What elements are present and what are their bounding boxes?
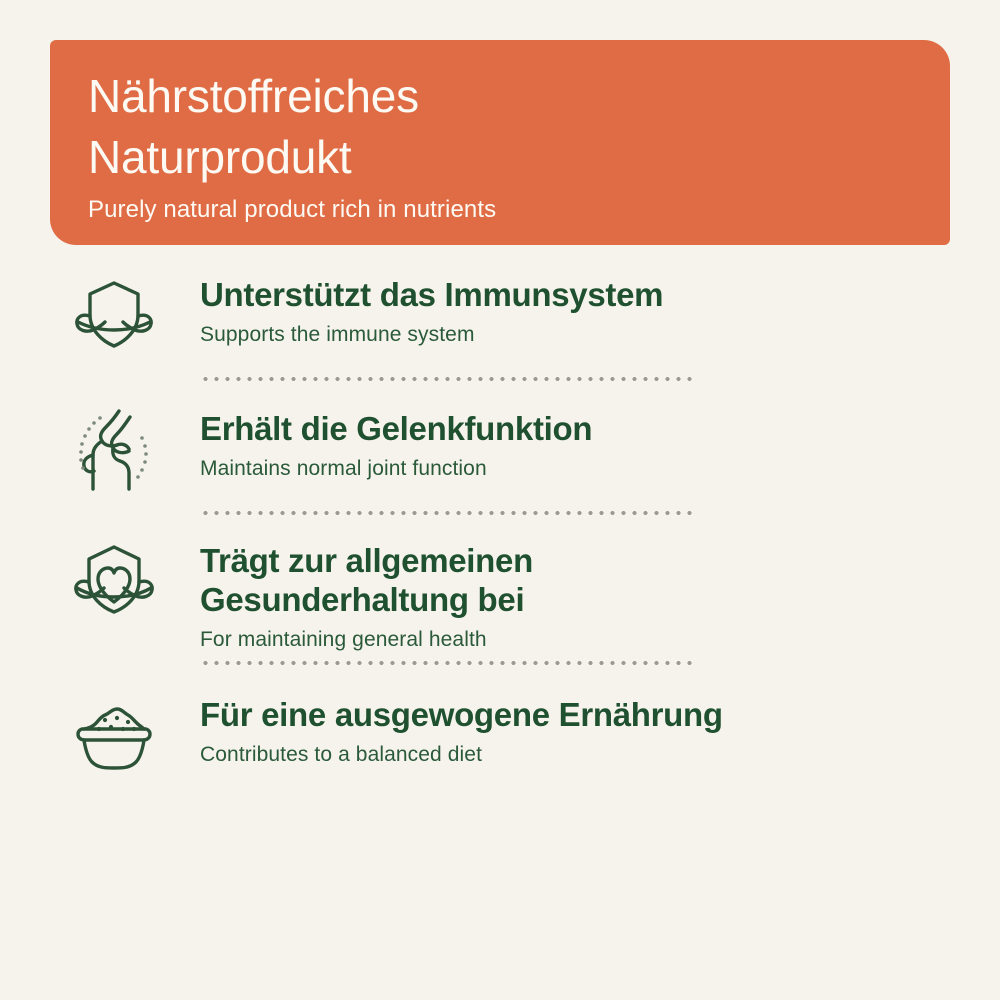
banner-subtitle: Purely natural product rich in nutrients <box>88 195 950 225</box>
benefit-heading-de: Erhält die Gelenkfunktion <box>200 410 1000 449</box>
dotted-line <box>200 511 696 515</box>
benefit-item-general-health: Trägt zur allgemeinen Gesunderhaltung be… <box>0 534 1000 652</box>
benefit-subheading-en: For maintaining general health <box>200 627 1000 652</box>
benefit-subheading-en: Maintains normal joint function <box>200 456 1000 481</box>
benefit-heading-de: Unterstützt das Immunsystem <box>200 276 1000 315</box>
divider-2 <box>200 502 696 524</box>
shield-leaves-icon <box>72 272 156 356</box>
benefit-subheading-en: Supports the immune system <box>200 322 1000 347</box>
benefit-subheading-en: Contributes to a balanced diet <box>200 742 1000 767</box>
benefit-item-joint-function: Erhält die Gelenkfunktion Maintains norm… <box>0 402 1000 502</box>
benefit-text-block: Unterstützt das Immunsystem Supports the… <box>156 268 1000 347</box>
header-banner: Nährstoffreiches Naturprodukt Purely nat… <box>50 40 950 245</box>
benefits-list: Unterstützt das Immunsystem Supports the… <box>0 262 1000 788</box>
benefit-text-block: Trägt zur allgemeinen Gesunderhaltung be… <box>156 534 1000 652</box>
benefit-heading-de: Trägt zur allgemeinen Gesunderhaltung be… <box>200 542 1000 620</box>
shield-heart-leaves-icon <box>72 538 156 622</box>
dotted-line <box>200 661 696 665</box>
benefit-item-balanced-diet: Für eine ausgewogene Ernährung Contribut… <box>0 688 1000 788</box>
banner-title: Nährstoffreiches Naturprodukt <box>88 66 950 187</box>
benefit-heading-de: Für eine ausgewogene Ernährung <box>200 696 1000 735</box>
food-bowl-icon <box>72 692 156 776</box>
dotted-line <box>200 377 696 381</box>
bone-joint-icon <box>72 406 156 490</box>
divider-3 <box>200 652 696 674</box>
divider-1 <box>200 368 696 390</box>
product-benefits-infographic: Nährstoffreiches Naturprodukt Purely nat… <box>0 0 1000 1000</box>
benefit-text-block: Erhält die Gelenkfunktion Maintains norm… <box>156 402 1000 481</box>
benefit-item-immune-system: Unterstützt das Immunsystem Supports the… <box>0 268 1000 368</box>
benefit-text-block: Für eine ausgewogene Ernährung Contribut… <box>156 688 1000 767</box>
